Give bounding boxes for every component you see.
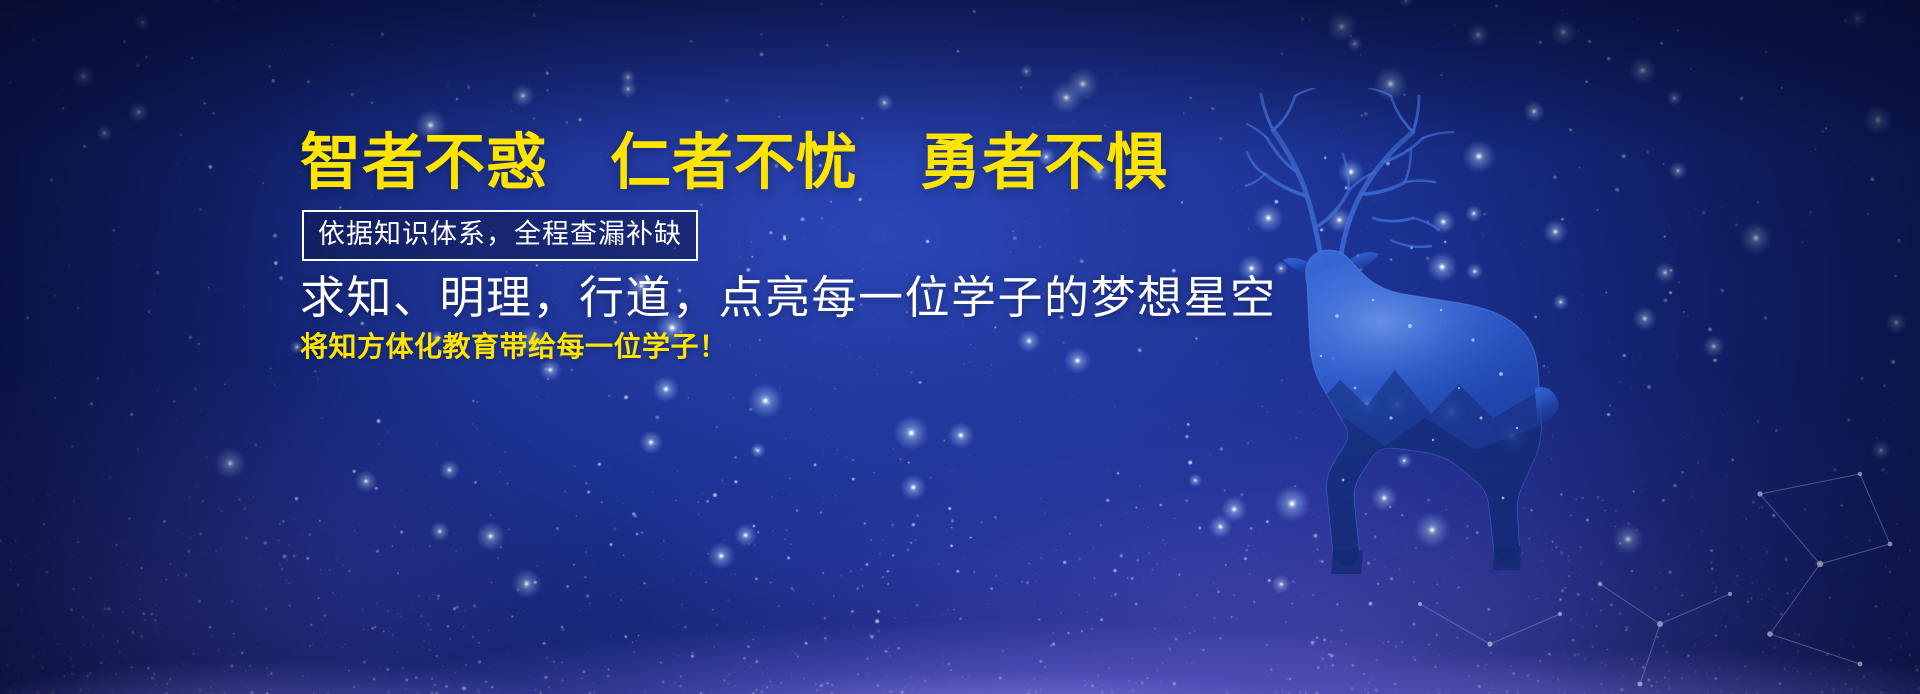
banner-copy-block: 智者不惑 仁者不忧 勇者不惧 依据知识体系，全程查漏补缺 求知、明理，行道，点亮…	[300, 132, 1310, 363]
feature-badge: 依据知识体系，全程查漏补缺	[302, 210, 698, 261]
starry-night-banner: 智者不惑 仁者不忧 勇者不惧 依据知识体系，全程查漏补缺 求知、明理，行道，点亮…	[0, 0, 1920, 694]
banner-tagline: 将知方体化教育带给每一位学子！	[300, 330, 1310, 364]
banner-subtitle: 求知、明理，行道，点亮每一位学子的梦想星空	[300, 273, 1310, 323]
deer-tail	[1535, 387, 1559, 421]
boxed-label-row: 依据知识体系，全程查漏补缺	[302, 210, 1310, 261]
constellation-lines-decoration	[1300, 434, 1920, 694]
page-title: 智者不惑 仁者不忧 勇者不惧	[300, 132, 1310, 194]
